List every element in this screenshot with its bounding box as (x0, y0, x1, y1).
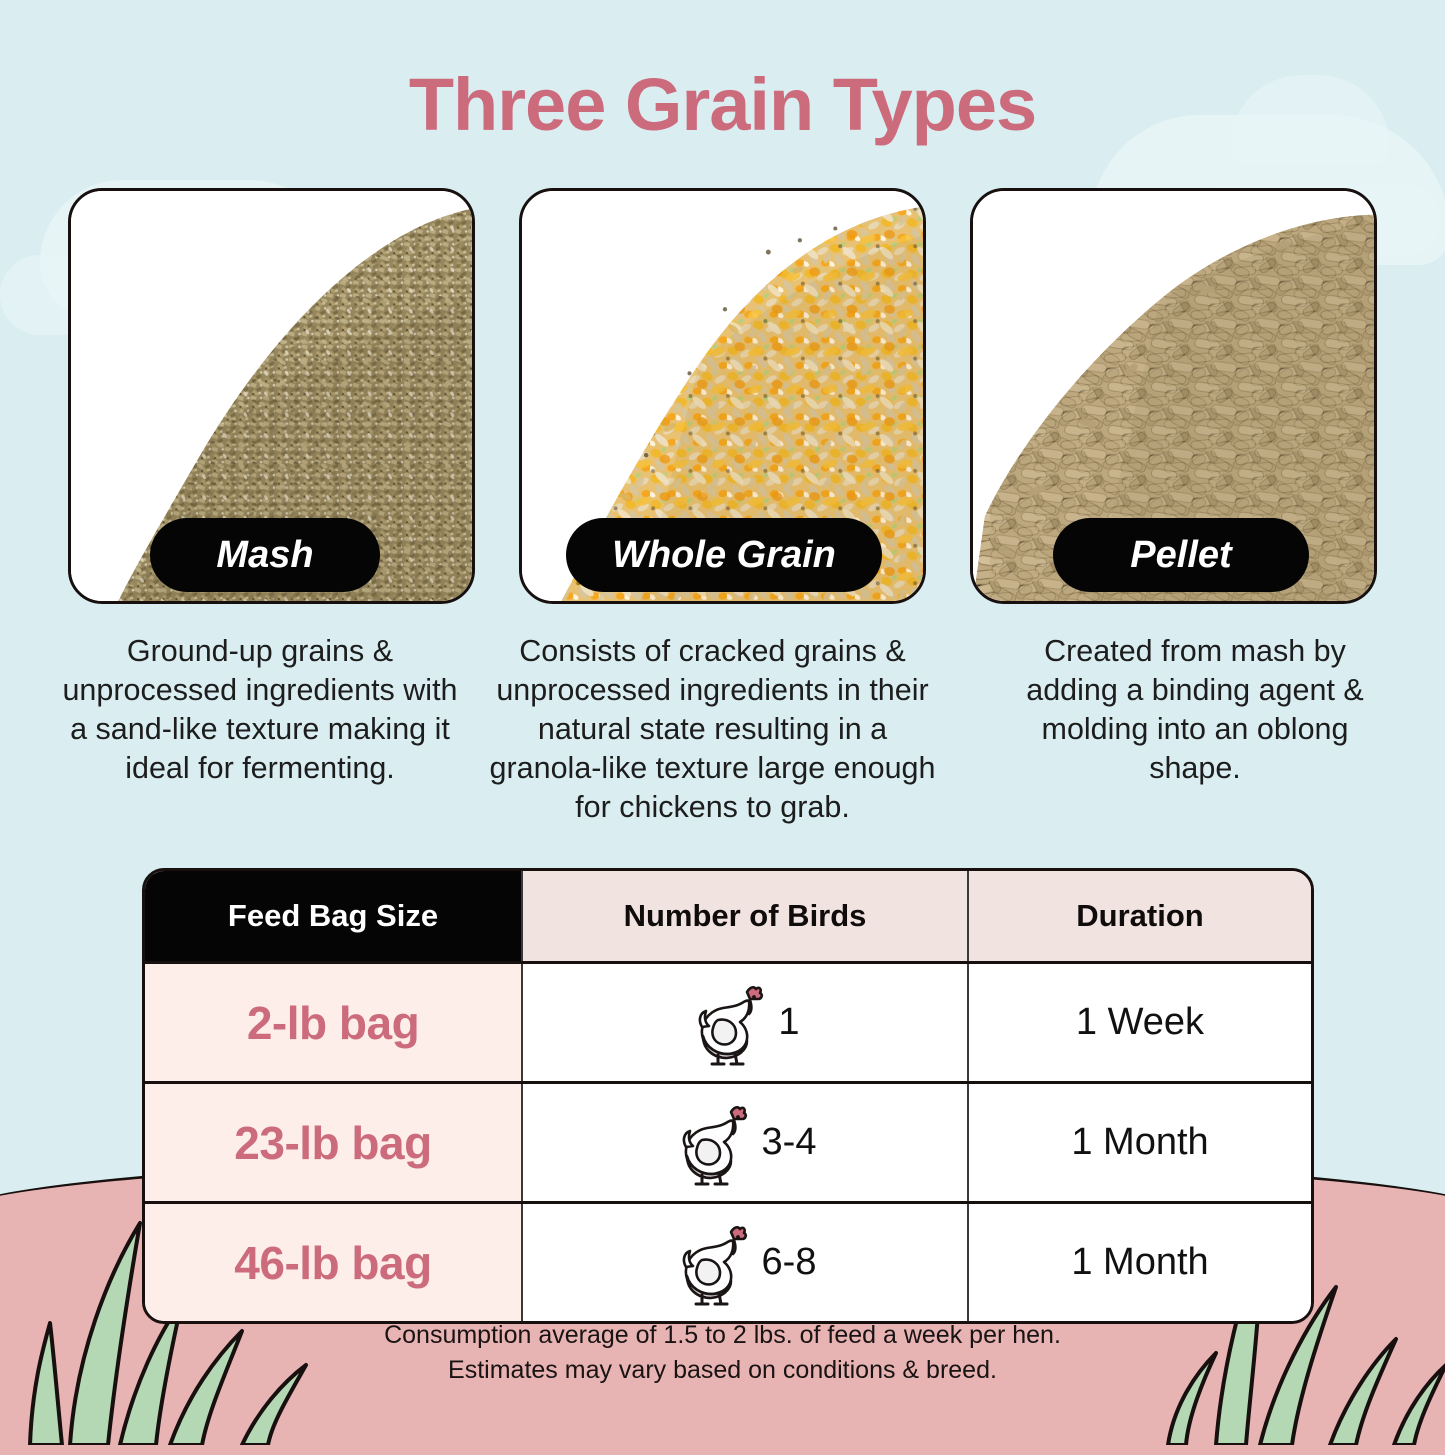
cell-number-of-birds: 6-8 (521, 1204, 967, 1321)
grain-label-row: Mash Whole Grain Pellet (0, 518, 1445, 598)
cell-number-of-birds: 3-4 (521, 1084, 967, 1201)
grain-description-pellet: Created from mash by adding a binding ag… (1005, 632, 1385, 827)
cell-duration: 1 Week (967, 964, 1311, 1081)
hen-icon (690, 980, 764, 1066)
footnote: Consumption average of 1.5 to 2 lbs. of … (0, 1318, 1445, 1387)
feed-bag-table: Feed Bag Size Number of Birds Duration 2… (142, 868, 1314, 1324)
cell-duration: 1 Month (967, 1084, 1311, 1201)
footnote-line-2: Estimates may vary based on conditions &… (0, 1353, 1445, 1388)
cell-feed-bag-size: 23-lb bag (145, 1084, 521, 1201)
footnote-line-1: Consumption average of 1.5 to 2 lbs. of … (0, 1318, 1445, 1353)
cell-feed-bag-size: 46-lb bag (145, 1204, 521, 1321)
cell-bird-count: 6-8 (762, 1241, 817, 1284)
cell-duration: 1 Month (967, 1204, 1311, 1321)
table-header-number-of-birds: Number of Birds (521, 871, 967, 961)
table-row[interactable]: 2-lb bag (145, 961, 1311, 1081)
grain-label-whole-grain: Whole Grain (566, 518, 882, 592)
table-row[interactable]: 23-lb bag (145, 1081, 1311, 1201)
cell-bird-count: 1 (778, 1001, 799, 1044)
table-row[interactable]: 46-lb bag (145, 1201, 1311, 1321)
hen-icon (674, 1220, 748, 1306)
table-header-duration: Duration (967, 871, 1311, 961)
cell-feed-bag-size: 2-lb bag (145, 964, 521, 1081)
grain-label-mash: Mash (150, 518, 380, 592)
table-header-row: Feed Bag Size Number of Birds Duration (145, 871, 1311, 961)
grain-label-pellet: Pellet (1053, 518, 1309, 592)
page-title: Three Grain Types (0, 62, 1445, 147)
grain-description-row: Ground-up grains & unprocessed ingredien… (60, 632, 1385, 827)
table-header-feed-bag-size: Feed Bag Size (145, 871, 521, 961)
cell-bird-count: 3-4 (762, 1121, 817, 1164)
cell-number-of-birds: 1 (521, 964, 967, 1081)
grain-description-whole-grain: Consists of cracked grains & unprocessed… (480, 632, 945, 827)
hen-icon (674, 1100, 748, 1186)
grain-description-mash: Ground-up grains & unprocessed ingredien… (60, 632, 460, 827)
